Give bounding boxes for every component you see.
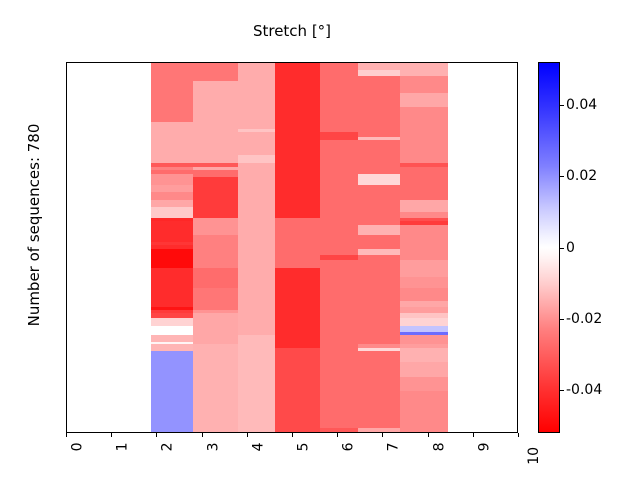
heatmap-row [67,318,517,325]
heatmap-cell [238,428,275,432]
heatmap-cell [358,122,400,129]
heatmap-cell [320,351,358,362]
heatmap-cell [238,351,275,362]
heatmap-cell [320,260,358,267]
heatmap-cell [151,185,193,192]
heatmap-cell [238,200,275,207]
heatmap-cell [238,326,275,333]
heatmap-cell [320,335,358,342]
heatmap-cell [193,235,238,242]
heatmap-cell [193,391,238,421]
heatmap-cell [275,63,320,70]
heatmap-cells [67,63,517,432]
heatmap-cell [238,277,275,288]
heatmap-cell [320,122,358,129]
heatmap-cell [358,140,400,155]
heatmap-cell [151,63,193,70]
heatmap-cell [358,377,400,392]
heatmap-cell [151,326,193,333]
x-tick-mark [337,433,338,437]
heatmap-cell [400,421,448,428]
heatmap-cell [193,335,238,342]
heatmap-cell [320,107,358,122]
colorbar-tick-label: -0.02 [566,312,602,326]
x-tick-mark [292,433,293,437]
heatmap-cell [358,93,400,108]
heatmap-row [67,155,517,162]
heatmap-cell [320,326,358,333]
y-axis-label: Number of sequences: 780 [26,75,42,375]
heatmap-cell [320,362,358,377]
heatmap-cell [320,140,358,155]
heatmap-row [67,326,517,333]
heatmap-cell [238,140,275,155]
heatmap-cell [358,288,400,301]
heatmap-cell [238,107,275,122]
heatmap-cell [238,155,275,162]
heatmap-row [67,428,517,432]
heatmap-cell [193,421,238,428]
heatmap-cell [193,288,238,301]
heatmap-cell [275,318,320,325]
heatmap-cell [320,268,358,277]
x-tick-mark [518,433,519,437]
x-tick-label: 1 [116,442,130,451]
heatmap-cell [320,391,358,421]
heatmap-cell [238,81,275,93]
heatmap-cell [400,235,448,242]
x-tick-label: 7 [387,442,401,451]
colorbar-tick-label: -0.04 [566,383,602,397]
heatmap-cell [193,351,238,362]
heatmap-cell [193,122,238,129]
heatmap-cell [238,63,275,70]
heatmap-cell [400,260,448,267]
heatmap-cell [151,421,193,428]
heatmap-row [67,391,517,421]
heatmap-cell [275,107,320,122]
heatmap-row [67,93,517,108]
heatmap-cell [275,81,320,93]
heatmap-row [67,81,517,93]
heatmap-cell [193,225,238,234]
heatmap-row [67,421,517,428]
heatmap-cell [275,428,320,432]
heatmap-row [67,351,517,362]
heatmap-cell [275,351,320,362]
heatmap-cell [400,288,448,301]
heatmap-row [67,122,517,129]
heatmap-cell [193,277,238,288]
heatmap-cell [275,377,320,392]
heatmap-row [67,335,517,342]
heatmap-cell [358,177,400,184]
heatmap-row [67,268,517,277]
x-tick-mark [247,433,248,437]
heatmap-cell [151,155,193,162]
heatmap-cell [358,351,400,362]
heatmap-row [67,362,517,377]
heatmap-cell [238,235,275,242]
heatmap-cell [151,225,193,234]
heatmap-cell [400,107,448,122]
figure: Stretch [°] Number of sequences: 780 012… [0,0,640,480]
heatmap-cell [400,140,448,155]
heatmap-cell [193,318,238,325]
colorbar-tick-mark [560,105,564,106]
heatmap-cell [275,277,320,288]
heatmap-cell [238,377,275,392]
heatmap-cell [400,93,448,108]
heatmap-cell [320,277,358,288]
heatmap-cell [358,63,400,70]
heatmap-cell [275,185,320,192]
heatmap-row [67,140,517,155]
heatmap-cell [151,428,193,432]
heatmap-cell [320,421,358,428]
heatmap-cell [320,318,358,325]
heatmap-cell [275,326,320,333]
heatmap-cell [275,391,320,421]
x-tick-label: 4 [251,442,265,451]
heatmap-cell [358,335,400,342]
heatmap-cell [275,122,320,129]
heatmap-cell [193,185,238,192]
heatmap-cell [275,288,320,301]
heatmap-cell [400,177,448,184]
heatmap-cell [400,318,448,325]
heatmap-cell [358,391,400,421]
heatmap-cell [275,335,320,342]
heatmap-cell [151,140,193,155]
heatmap-cell [151,362,193,377]
heatmap-cell [358,192,400,199]
heatmap-cell [358,277,400,288]
colorbar-tick-label: 0 [566,241,575,255]
heatmap-cell [193,200,238,207]
heatmap-cell [358,268,400,277]
heatmap-cell [193,362,238,377]
heatmap-cell [400,81,448,93]
heatmap-cell [358,155,400,162]
heatmap-cell [400,335,448,342]
heatmap-cell [238,268,275,277]
heatmap-cell [151,351,193,362]
colorbar-tick-label: 0.02 [566,169,597,183]
heatmap-cell [151,192,193,199]
heatmap-cell [400,192,448,199]
heatmap-cell [320,155,358,162]
heatmap-cell [151,93,193,108]
heatmap-cell [358,362,400,377]
heatmap-cell [320,235,358,242]
heatmap-cell [151,268,193,277]
heatmap-row [67,185,517,192]
heatmap-cell [193,155,238,162]
heatmap-cell [238,260,275,267]
heatmap-cell [275,200,320,207]
heatmap-cell [275,260,320,267]
heatmap-cell [151,122,193,129]
heatmap-cell [193,177,238,184]
heatmap-cell [275,155,320,162]
heatmap-cell [193,63,238,70]
heatmap-cell [238,362,275,377]
heatmap-cell [238,421,275,428]
heatmap-cell [238,335,275,342]
colorbar-tick-mark [560,248,564,249]
heatmap-cell [151,335,193,342]
heatmap-cell [193,107,238,122]
heatmap-row [67,200,517,207]
colorbar-tick-label: 0.04 [566,98,597,112]
heatmap-cell [193,428,238,432]
heatmap-cell [320,428,358,432]
heatmap-cell [151,288,193,301]
heatmap-cell [238,318,275,325]
heatmap-cell [151,235,193,242]
heatmap-cell [238,122,275,129]
heatmap-row [67,63,517,70]
heatmap-cell [400,122,448,129]
x-tick-label: 10 [527,447,541,465]
heatmap-cell [238,93,275,108]
heatmap-cell [151,177,193,184]
heatmap-cell [400,326,448,333]
heatmap-row [67,192,517,199]
heatmap-cell [238,177,275,184]
heatmap-cell [275,225,320,234]
x-tick-mark [66,433,67,437]
heatmap-cell [358,428,400,432]
heatmap-cell [193,81,238,93]
heatmap-cell [275,177,320,184]
heatmap-cell [193,192,238,199]
x-tick-label: 0 [70,442,84,451]
heatmap-cell [151,277,193,288]
colorbar-tick-mark [560,176,564,177]
x-tick-mark [428,433,429,437]
heatmap-row [67,260,517,267]
heatmap-cell [320,63,358,70]
heatmap-cell [193,260,238,267]
x-tick-mark [382,433,383,437]
heatmap-cell [193,377,238,392]
heatmap-cell [320,185,358,192]
x-tick-label: 8 [432,442,446,451]
colorbar-tick-mark [560,319,564,320]
heatmap-cell [400,277,448,288]
heatmap-cell [275,421,320,428]
heatmap-row [67,277,517,288]
heatmap-cell [358,107,400,122]
heatmap-cell [193,93,238,108]
heatmap-cell [275,192,320,199]
heatmap-row [67,107,517,122]
x-tick-mark [156,433,157,437]
heatmap-cell [358,200,400,207]
heatmap-cell [151,318,193,325]
heatmap-cell [358,326,400,333]
heatmap-cell [358,81,400,93]
heatmap-cell [400,391,448,421]
heatmap-cell [193,326,238,333]
heatmap-cell [320,377,358,392]
heatmap-cell [275,235,320,242]
x-tick-label: 6 [342,442,356,451]
heatmap-cell [320,192,358,199]
heatmap-cell [193,140,238,155]
x-tick-label: 2 [161,442,175,451]
heatmap-cell [151,107,193,122]
heatmap-cell [238,185,275,192]
heatmap-cell [151,81,193,93]
heatmap-cell [358,318,400,325]
heatmap-cell [320,81,358,93]
heatmap-cell [358,421,400,428]
heatmap-cell [320,177,358,184]
x-tick-mark [202,433,203,437]
heatmap-cell [238,225,275,234]
heatmap-cell [358,185,400,192]
chart-title: Stretch [°] [66,22,518,40]
heatmap-cell [358,225,400,234]
heatmap-cell [320,93,358,108]
heatmap-cell [275,362,320,377]
heatmap-cell [320,200,358,207]
heatmap-axes [66,62,518,433]
heatmap-cell [193,268,238,277]
heatmap-row [67,288,517,301]
heatmap-cell [238,391,275,421]
heatmap-cell [358,260,400,267]
heatmap-cell [400,428,448,432]
heatmap-row [67,377,517,392]
colorbar-tick-mark [560,390,564,391]
heatmap-cell [400,200,448,207]
heatmap-cell [400,351,448,362]
heatmap-row [67,235,517,242]
heatmap-cell [400,155,448,162]
heatmap-cell [275,93,320,108]
heatmap-cell [400,377,448,392]
x-tick-label: 5 [296,442,310,451]
heatmap-cell [400,185,448,192]
heatmap-cell [400,63,448,70]
heatmap-row [67,225,517,234]
heatmap-cell [238,192,275,199]
heatmap-cell [400,362,448,377]
heatmap-cell [358,235,400,242]
heatmap-cell [151,260,193,267]
colorbar-gradient [538,62,560,433]
heatmap-cell [400,268,448,277]
heatmap-cell [400,225,448,234]
heatmap-cell [275,268,320,277]
heatmap-cell [238,288,275,301]
heatmap-cell [320,288,358,301]
heatmap-cell [151,377,193,392]
heatmap-cell [151,200,193,207]
heatmap-cell [275,140,320,155]
heatmap-cell [320,225,358,234]
heatmap-row [67,177,517,184]
x-tick-mark [111,433,112,437]
x-tick-label: 9 [477,442,491,451]
heatmap-cell [151,391,193,421]
x-tick-mark [473,433,474,437]
x-tick-label: 3 [206,442,220,451]
